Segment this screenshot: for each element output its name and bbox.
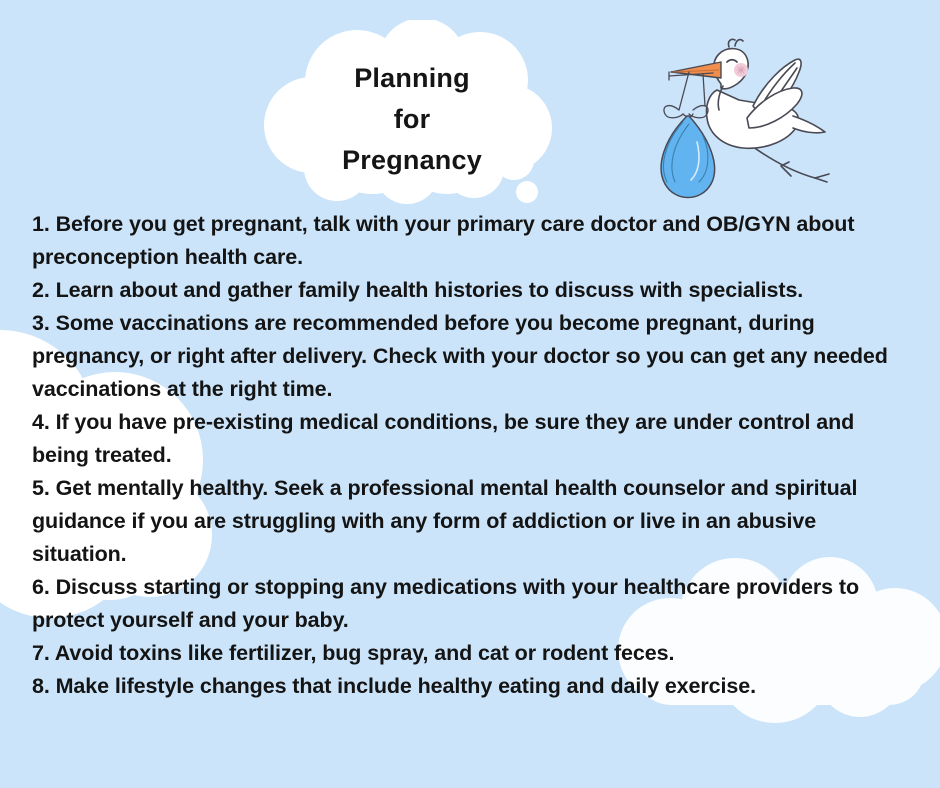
tip-item: 8. Make lifestyle changes that include h… [32,670,912,703]
tip-item: 5. Get mentally healthy. Seek a professi… [32,472,912,571]
title-line-1: Planning [262,58,562,99]
tip-item: 4. If you have pre-existing medical cond… [32,406,912,472]
tips-list: 1. Before you get pregnant, talk with yo… [32,208,912,703]
stork-illustration [643,32,843,212]
title-thought-bubble: Planning for Pregnancy [262,20,562,215]
title-line-2: for [262,99,562,140]
tip-item: 3. Some vaccinations are recommended bef… [32,307,912,406]
poster-canvas: Planning for Pregnancy [0,0,940,788]
tip-item: 6. Discuss starting or stopping any medi… [32,571,912,637]
tip-item: 7. Avoid toxins like fertilizer, bug spr… [32,637,912,670]
page-title: Planning for Pregnancy [262,58,562,181]
tip-item: 1. Before you get pregnant, talk with yo… [32,208,912,274]
title-line-3: Pregnancy [262,140,562,181]
tip-item: 2. Learn about and gather family health … [32,274,912,307]
